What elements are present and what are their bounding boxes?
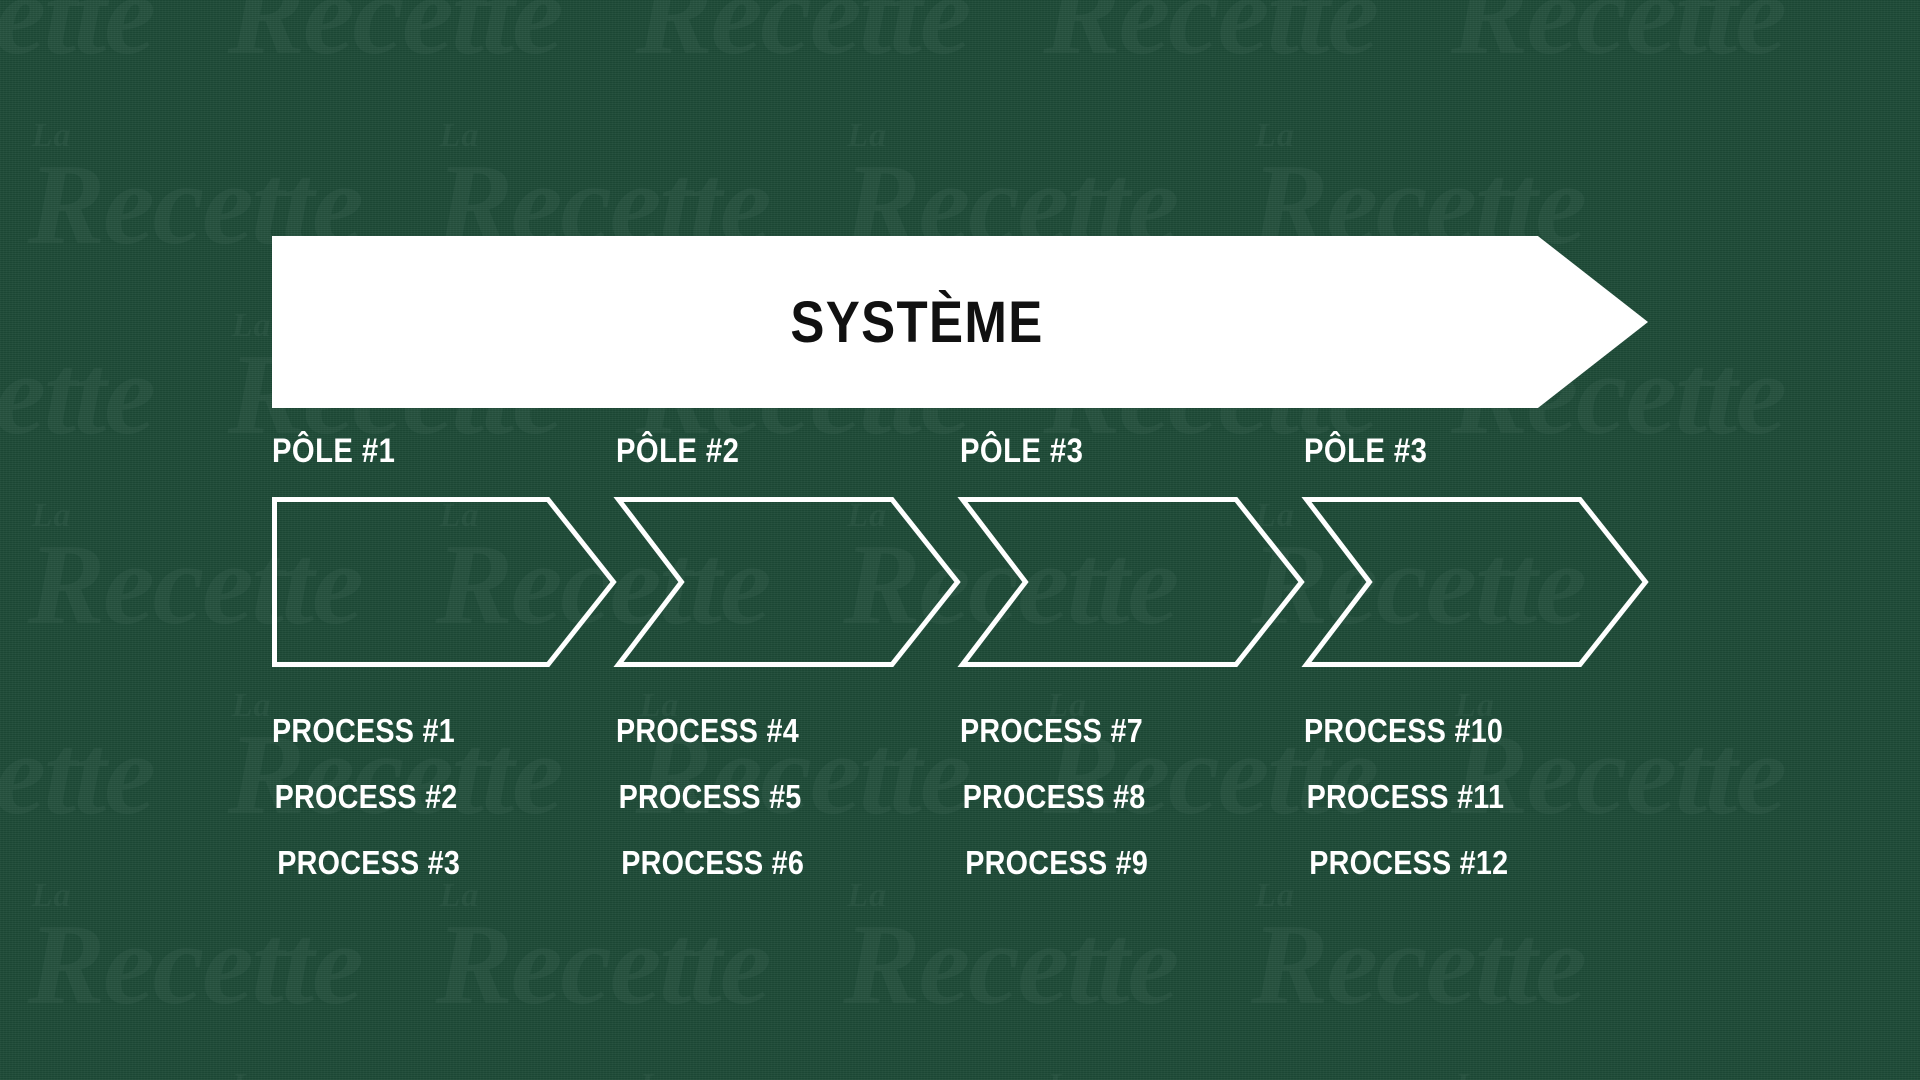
watermark-label: Recette	[1043, 0, 1377, 79]
watermark-prefix: La	[847, 117, 887, 155]
process-item: PROCESS #3	[272, 830, 637, 896]
process-item: PROCESS #5	[616, 764, 981, 830]
chevron-shape-2[interactable]	[616, 497, 960, 667]
slide-canvas: LaRecetteLaRecetteLaRecetteLaRecetteLaRe…	[0, 0, 1920, 1080]
process-item: PROCESS #7	[960, 698, 1325, 764]
watermark-prefix: La	[32, 877, 72, 915]
watermark-label: Recette	[28, 901, 362, 1029]
page-title: SYSTÈME	[349, 236, 1484, 408]
watermark-word: LaRecette	[228, 0, 562, 73]
system-banner-arrow: SYSTÈME	[272, 236, 1648, 408]
watermark-label: Recette	[0, 331, 154, 459]
watermark-label: Recette	[228, 0, 562, 79]
watermark-word: LaRecette	[436, 907, 770, 1023]
pole-label-1: PÔLE #1	[272, 432, 395, 471]
watermark-prefix: La	[1255, 117, 1295, 155]
watermark-row: LaRecetteLaRecetteLaRecetteLaRecetteLaRe…	[0, 0, 1920, 110]
watermark-label: Recette	[1451, 0, 1785, 79]
watermark-prefix: La	[440, 117, 480, 155]
watermark-word: LaRecette	[843, 907, 1177, 1023]
pole-label-3: PÔLE #3	[960, 432, 1083, 471]
process-item: PROCESS #1	[272, 698, 637, 764]
watermark-word: LaRecette	[1451, 0, 1785, 73]
chevron-shape-3[interactable]	[960, 497, 1304, 667]
watermark-label: Recette	[0, 0, 154, 79]
watermark-prefix: La	[640, 1067, 680, 1080]
watermark-label: Recette	[0, 711, 154, 839]
watermark-prefix: La	[1047, 1067, 1087, 1080]
chevron-shape-4[interactable]	[1304, 497, 1648, 667]
watermark-word: LaRecette	[28, 907, 362, 1023]
watermark-label: Recette	[436, 901, 770, 1029]
process-item: PROCESS #6	[616, 830, 981, 896]
watermark-label: Recette	[1251, 901, 1585, 1029]
watermark-prefix: La	[232, 307, 272, 345]
watermark-word: LaRecette	[636, 0, 970, 73]
pole-label-2: PÔLE #2	[616, 432, 739, 471]
watermark-label: Recette	[636, 0, 970, 79]
watermark-word: LaRecette	[0, 0, 154, 73]
watermark-label: Recette	[843, 901, 1177, 1029]
process-item: PROCESS #8	[960, 764, 1325, 830]
watermark-prefix: La	[232, 1067, 272, 1080]
process-item: PROCESS #11	[1304, 764, 1669, 830]
process-list-4: PROCESS #10PROCESS #11PROCESS #12	[1304, 698, 1724, 896]
pole-columns: PÔLE #1PROCESS #1PROCESS #2PROCESS #3PÔL…	[0, 0, 1920, 1080]
pole-label-4: PÔLE #3	[1304, 432, 1427, 471]
watermark-word: LaRecette	[1043, 0, 1377, 73]
process-item: PROCESS #2	[272, 764, 637, 830]
watermark-word: LaRecette	[1251, 907, 1585, 1023]
process-item: PROCESS #4	[616, 698, 981, 764]
watermark-word: LaRecette	[0, 717, 154, 833]
watermark-prefix: La	[1455, 1067, 1495, 1080]
watermark-prefix: La	[232, 687, 272, 725]
watermark-prefix: La	[32, 497, 72, 535]
watermark-row: LaRecetteLaRecetteLaRecetteLaRecetteLaRe…	[0, 1060, 1920, 1080]
watermark-row: LaRecetteLaRecetteLaRecetteLaRecetteLaRe…	[0, 870, 1920, 1060]
watermark-prefix: La	[32, 117, 72, 155]
chevron-shape-1[interactable]	[272, 497, 616, 667]
watermark-word: LaRecette	[0, 337, 154, 453]
process-item: PROCESS #10	[1304, 698, 1669, 764]
process-item: PROCESS #12	[1304, 830, 1669, 896]
process-item: PROCESS #9	[960, 830, 1325, 896]
